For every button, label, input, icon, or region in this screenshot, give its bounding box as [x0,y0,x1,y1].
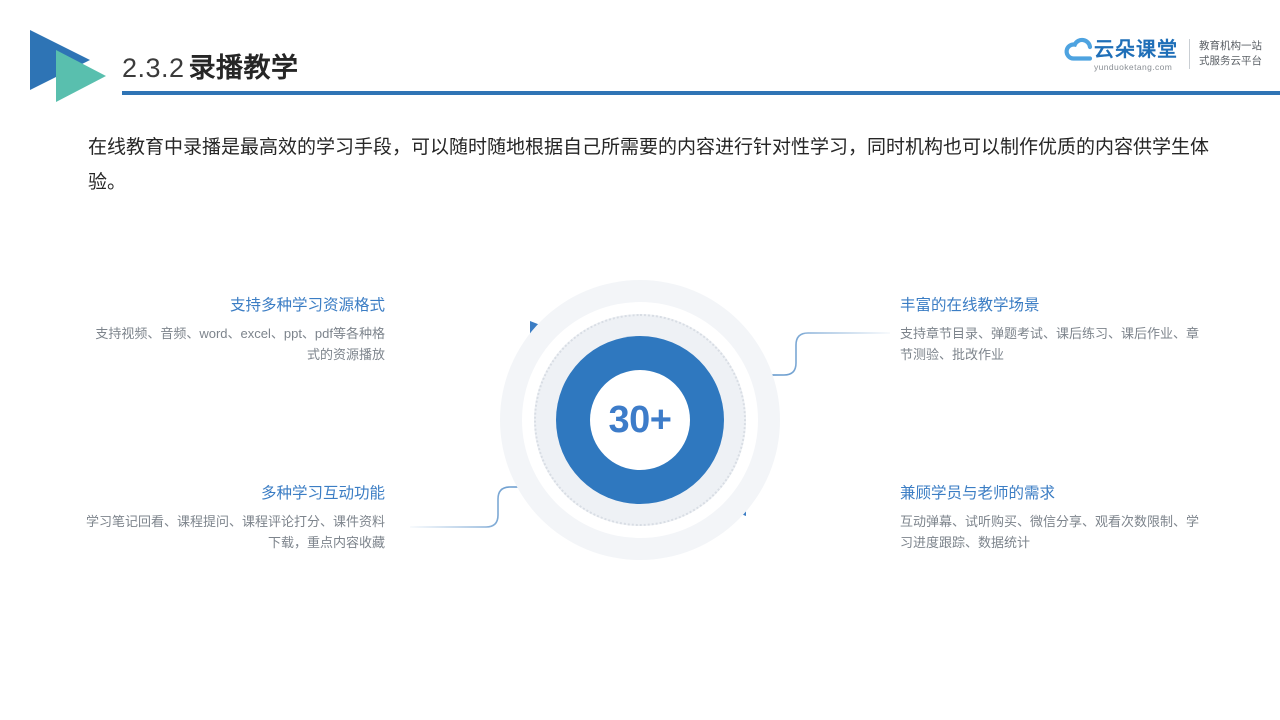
slide-root: 2.3.2录播教学 云朵课堂 yunduoketang.com 教育机构一站 式… [0,0,1280,720]
feature-top-right: 丰富的在线教学场景 支持章节目录、弹题考试、课后练习、课后作业、章节测验、批改作… [900,293,1200,366]
feature-title: 多种学习互动功能 [85,481,385,503]
brand-wordmark: 云朵课堂 yunduoketang.com [1094,40,1178,72]
cloud-icon [1064,37,1098,72]
header-divider [122,91,1280,95]
center-value-circle: 30+ [590,370,690,470]
feature-bottom-left: 多种学习互动功能 学习笔记回看、课程提问、课程评论打分、课件资料下载，重点内容收… [85,481,385,554]
feature-top-left: 支持多种学习资源格式 支持视频、音频、word、excel、ppt、pdf等各种… [85,293,385,366]
feature-body: 支持章节目录、弹题考试、课后练习、课后作业、章节测验、批改作业 [900,324,1200,366]
feature-title: 丰富的在线教学场景 [900,293,1200,315]
brand-tagline-line2: 式服务云平台 [1199,54,1262,69]
page-title: 2.3.2录播教学 [122,46,299,85]
play-triangles-logo [26,28,130,104]
feature-title: 兼顾学员与老师的需求 [900,481,1200,503]
brand-name-cn: 云朵课堂 [1094,40,1178,60]
feature-body: 互动弹幕、试听购买、微信分享、观看次数限制、学习进度跟踪、数据统计 [900,512,1200,554]
feature-body: 支持视频、音频、word、excel、ppt、pdf等各种格式的资源播放 [85,324,385,366]
center-badge: 30+ [500,280,780,560]
feature-body: 学习笔记回看、课程提问、课程评论打分、课件资料下载，重点内容收藏 [85,512,385,554]
intro-paragraph: 在线教育中录播是最高效的学习手段，可以随时随地根据自己所需要的内容进行针对性学习… [88,130,1218,200]
brand-logo-group: 云朵课堂 yunduoketang.com [1064,37,1178,72]
brand-logo: 云朵课堂 yunduoketang.com 教育机构一站 式服务云平台 [1064,32,1262,76]
brand-name-en: yunduoketang.com [1094,63,1178,72]
section-title: 录播教学 [189,53,299,83]
section-number: 2.3.2 [122,53,185,83]
feature-bottom-right: 兼顾学员与老师的需求 互动弹幕、试听购买、微信分享、观看次数限制、学习进度跟踪、… [900,481,1200,554]
feature-title: 支持多种学习资源格式 [85,293,385,315]
center-value: 30+ [609,399,672,442]
brand-tagline: 教育机构一站 式服务云平台 [1199,39,1262,69]
brand-tagline-line1: 教育机构一站 [1199,39,1262,54]
brand-divider [1189,39,1190,69]
